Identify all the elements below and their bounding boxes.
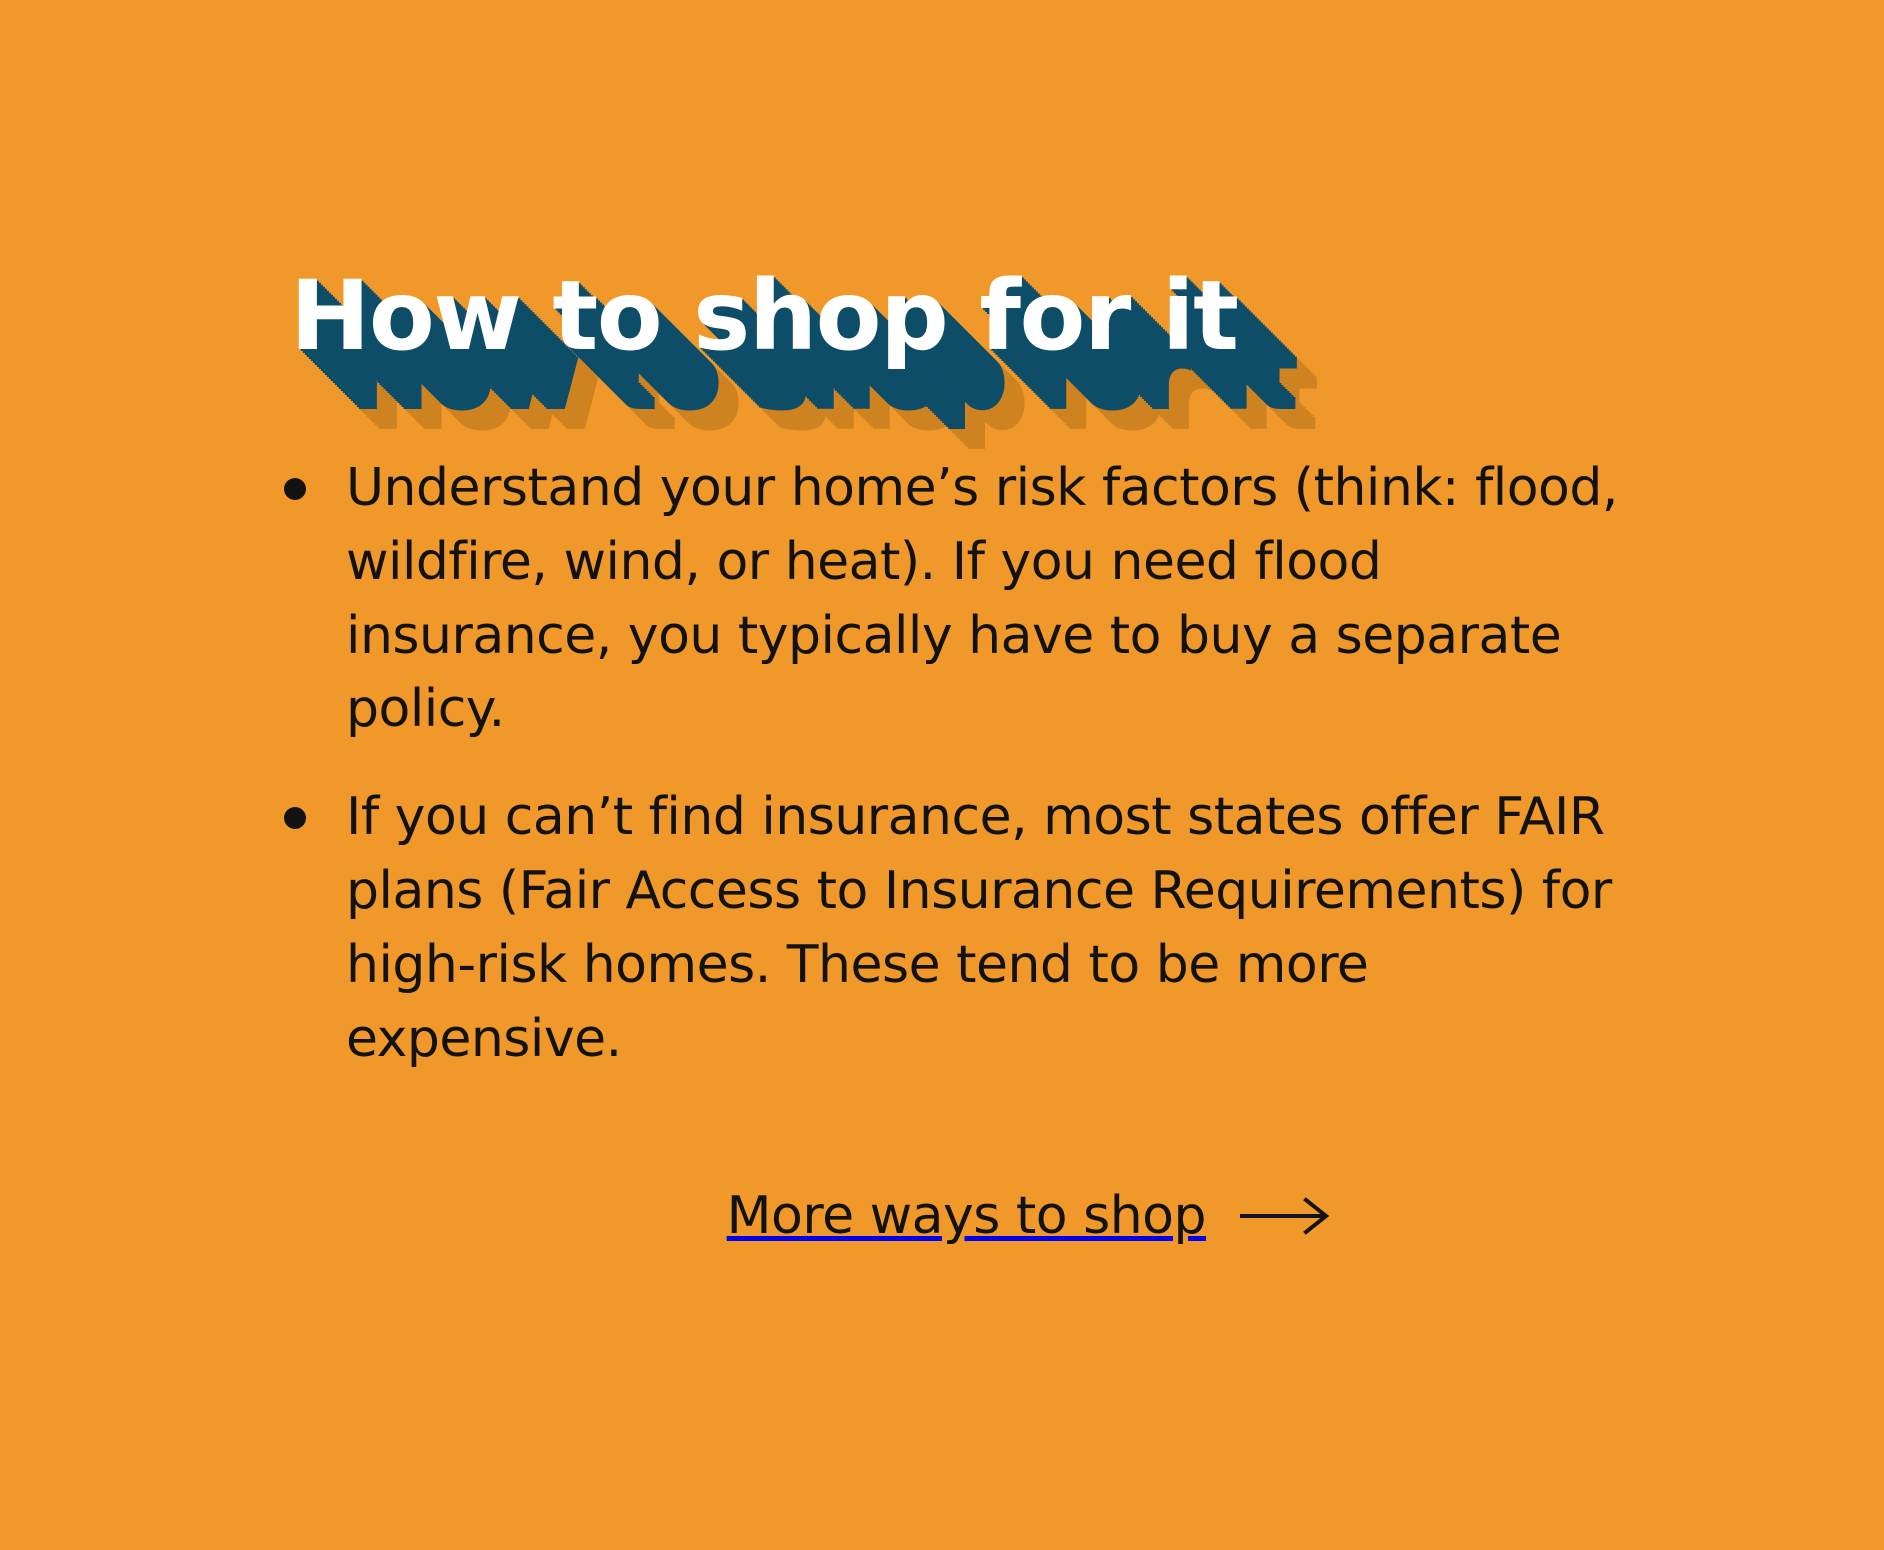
heading-text: How to shop for it <box>290 268 1238 364</box>
list-item: If you can’t find insurance, most states… <box>284 781 1624 1076</box>
more-ways-to-shop-link[interactable]: More ways to shop <box>727 1190 1332 1242</box>
tips-list: Understand your home’s risk factors (thi… <box>284 452 1624 1077</box>
cta-label: More ways to shop <box>727 1190 1206 1242</box>
list-item-text: Understand your home’s risk factors (thi… <box>346 452 1624 747</box>
list-item-text: If you can’t find insurance, most states… <box>346 781 1624 1076</box>
bullet-dot-icon <box>284 807 306 829</box>
page-title: How to shop for it <box>290 268 1590 398</box>
how-to-shop-card: How to shop for it Understand your home’… <box>0 0 1884 1550</box>
arrow-right-icon <box>1240 1195 1332 1237</box>
bullet-dot-icon <box>284 478 306 500</box>
list-item: Understand your home’s risk factors (thi… <box>284 452 1624 747</box>
